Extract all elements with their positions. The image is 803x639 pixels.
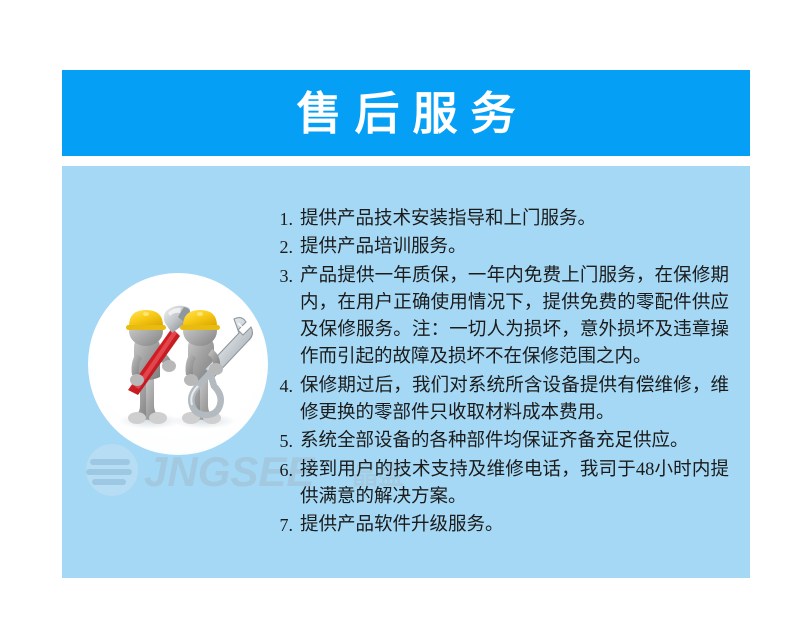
- list-item-text: 提供产品培训服务。: [300, 234, 729, 261]
- content-panel: JNGSEE 晶盛 1. 提供产品技术安装指导和上门服务。 2. 提供产品培训服…: [62, 166, 750, 578]
- list-item-number: 4.: [267, 373, 293, 400]
- list-item: 1. 提供产品技术安装指导和上门服务。: [267, 206, 729, 233]
- worker-right: [180, 310, 252, 424]
- list-item-number: 5.: [267, 428, 293, 455]
- list-item: 5. 系统全部设备的各种部件均保证齐备充足供应。: [267, 428, 729, 455]
- list-item-text: 提供产品技术安装指导和上门服务。: [300, 206, 729, 233]
- list-item-text: 系统全部设备的各种部件均保证齐备充足供应。: [300, 428, 729, 455]
- document-page: 售后服务: [0, 0, 803, 639]
- list-item-text: 提供产品软件升级服务。: [300, 512, 729, 539]
- worker-left: [126, 306, 190, 424]
- list-item-number: 6.: [267, 457, 293, 484]
- list-item-text: 保修期过后，我们对系统所含设备提供有偿维修，维修更换的零部件只收取材料成本费用。: [300, 373, 729, 428]
- list-item-text: 接到用户的技术支持及维修电话，我司于48小时内提供满意的解决方案。: [300, 457, 729, 512]
- two-workers-icon: [88, 273, 268, 455]
- list-item: 3. 产品提供一年质保，一年内免费上门服务，在保修期内，在用户正确使用情况下，提…: [267, 263, 729, 372]
- service-list: 1. 提供产品技术安装指导和上门服务。 2. 提供产品培训服务。 3. 产品提供…: [267, 206, 729, 541]
- header-banner: 售后服务: [62, 70, 750, 156]
- list-item-number: 7.: [267, 512, 293, 539]
- list-item-number: 3.: [267, 263, 293, 290]
- illustration-workers: [88, 273, 268, 455]
- page-title: 售后服务: [283, 91, 528, 136]
- list-item: 4. 保修期过后，我们对系统所含设备提供有偿维修，维修更换的零部件只收取材料成本…: [267, 373, 729, 428]
- list-item: 7. 提供产品软件升级服务。: [267, 512, 729, 539]
- list-item-text: 产品提供一年质保，一年内免费上门服务，在保修期内，在用户正确使用情况下，提供免费…: [300, 263, 729, 372]
- list-item: 2. 提供产品培训服务。: [267, 234, 729, 261]
- list-item: 6. 接到用户的技术支持及维修电话，我司于48小时内提供满意的解决方案。: [267, 457, 729, 512]
- list-item-number: 2.: [267, 234, 293, 261]
- list-item-number: 1.: [267, 206, 293, 233]
